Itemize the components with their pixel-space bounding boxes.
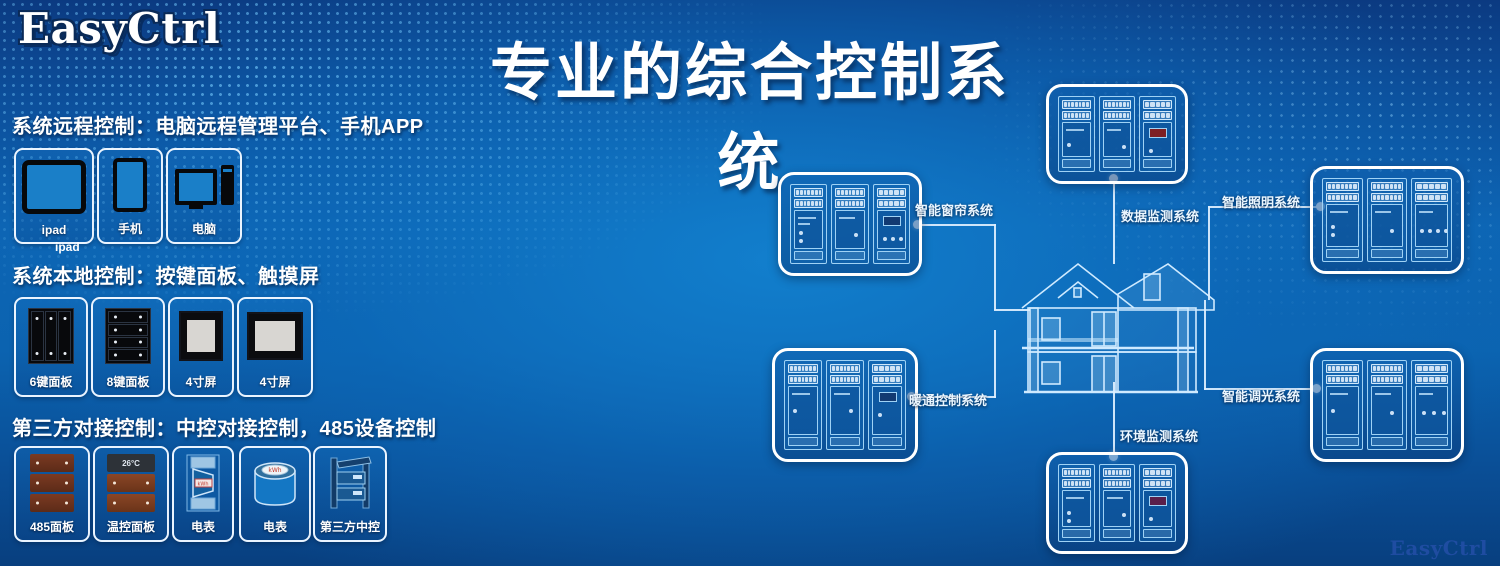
- device-card-6-key-panel[interactable]: 6键面板: [14, 297, 88, 397]
- controller-module: [1411, 178, 1452, 262]
- node-label-hvac-control-system: 暖通控制系统: [909, 390, 987, 409]
- round-meter-glyph: kWh: [247, 455, 303, 511]
- four-inch-screen-icon: [170, 299, 232, 373]
- thermostat-panel-icon: 26°C: [95, 448, 167, 518]
- section-heading-remote-control: 系统远程控制：电脑远程管理平台、手机APP: [12, 110, 424, 139]
- controller-module: [1099, 464, 1136, 542]
- brand-watermark: EasyCtrl: [1390, 536, 1488, 560]
- rs485-panel-icon: [16, 448, 88, 518]
- four-inch-screen-wide-icon: [239, 299, 311, 373]
- thermostat-temperature-display: 26°C: [107, 454, 155, 472]
- controller-module: [873, 184, 910, 264]
- controller-module: [784, 360, 822, 450]
- node-card-hvac-control-system[interactable]: [772, 348, 918, 462]
- controller-module: [1322, 178, 1363, 262]
- tablet-icon: [16, 150, 92, 223]
- controller-modules: [1058, 96, 1176, 172]
- connector-line: [1204, 300, 1206, 390]
- phone-icon: [99, 150, 161, 220]
- controller-module: [1139, 96, 1176, 172]
- controller-module: [1367, 360, 1408, 450]
- node-card-smart-lighting-system[interactable]: [1310, 166, 1464, 274]
- device-card-thermostat-panel[interactable]: 26°C 温控面板: [93, 446, 169, 542]
- connector-line: [994, 330, 996, 398]
- device-card-caption: 485面板: [30, 518, 74, 540]
- svg-text:kWh: kWh: [268, 467, 281, 474]
- controller-module: [826, 360, 864, 450]
- device-card-phone[interactable]: 手机: [97, 148, 163, 244]
- section-heading-local-control: 系统本地控制：按键面板、触摸屏: [12, 260, 320, 289]
- controller-module: [1058, 464, 1095, 542]
- node-card-smart-curtain-system[interactable]: [778, 172, 922, 276]
- controller-module: [1367, 178, 1408, 262]
- controller-modules: [1058, 464, 1176, 542]
- connector-line: [1113, 382, 1115, 458]
- controller-module: [868, 360, 906, 450]
- stray-ipad-caption: ipad: [55, 240, 80, 254]
- connector-line: [1113, 178, 1115, 264]
- device-card-caption: 手机: [118, 220, 142, 242]
- din-meter-glyph: kWh: [181, 453, 225, 513]
- device-card-round-meter[interactable]: kWh 电表: [239, 446, 311, 542]
- connector-line: [918, 224, 996, 226]
- controller-module: [1411, 360, 1452, 450]
- banner-canvas: EasyCtrl 专业的综合控制系统 系统远程控制：电脑远程管理平台、手机APP…: [0, 0, 1500, 566]
- controller-modules: [790, 184, 910, 264]
- node-card-data-monitoring-system[interactable]: [1046, 84, 1188, 184]
- device-card-third-party-controller[interactable]: 第三方中控: [313, 446, 387, 542]
- connector-line: [1208, 206, 1210, 300]
- device-card-din-meter[interactable]: kWh 电表: [172, 446, 234, 542]
- node-label-data-monitoring-system: 数据监测系统: [1121, 206, 1199, 225]
- page-title: 专业的综合控制系统: [470, 22, 1030, 202]
- device-card-caption: 4寸屏: [186, 373, 217, 395]
- device-card-caption: 温控面板: [107, 518, 155, 540]
- third-party-controller-glyph: [323, 454, 377, 512]
- device-card-caption: 4寸屏: [260, 373, 291, 395]
- third-party-controller-icon: [315, 448, 385, 518]
- brand-logo: EasyCtrl: [18, 4, 220, 53]
- device-card-485-panel[interactable]: 485面板: [14, 446, 90, 542]
- section-heading-third-party-control: 第三方对接控制：中控对接控制，485设备控制: [12, 412, 436, 441]
- node-label-smart-lighting-system: 智能照明系统: [1222, 192, 1300, 211]
- node-card-smart-dimming-system[interactable]: [1310, 348, 1464, 462]
- controller-module: [831, 184, 868, 264]
- node-label-environment-monitoring-system: 环境监测系统: [1120, 426, 1198, 445]
- eight-key-panel-icon: [93, 299, 163, 373]
- device-card-ipad[interactable]: ipad: [14, 148, 94, 244]
- device-card-caption: 电脑: [192, 220, 216, 242]
- controller-module: [1139, 464, 1176, 542]
- din-meter-icon: kWh: [174, 448, 232, 518]
- connector-line: [994, 224, 996, 310]
- device-card-computer[interactable]: 电脑: [166, 148, 242, 244]
- controller-modules: [1322, 360, 1452, 450]
- node-label-smart-dimming-system: 智能调光系统: [1222, 386, 1300, 405]
- house-illustration: [1018, 252, 1216, 402]
- round-meter-icon: kWh: [241, 448, 309, 518]
- device-card-4-inch-screen-wide[interactable]: 4寸屏: [237, 297, 313, 397]
- device-card-4-inch-screen[interactable]: 4寸屏: [168, 297, 234, 397]
- node-card-environment-monitoring-system[interactable]: [1046, 452, 1188, 554]
- desktop-computer-icon: [168, 150, 240, 220]
- controller-modules: [784, 360, 906, 450]
- controller-module: [790, 184, 827, 264]
- device-card-caption: 6键面板: [30, 373, 73, 395]
- controller-module: [1322, 360, 1363, 450]
- controller-modules: [1322, 178, 1452, 262]
- connector-line: [994, 309, 1030, 311]
- svg-text:kWh: kWh: [197, 482, 208, 488]
- device-card-caption: 电表: [191, 518, 215, 540]
- device-card-8-key-panel[interactable]: 8键面板: [91, 297, 165, 397]
- device-card-caption: 电表: [263, 518, 287, 540]
- node-label-smart-curtain-system: 智能窗帘系统: [915, 200, 993, 219]
- device-card-caption: 8键面板: [107, 373, 150, 395]
- controller-module: [1099, 96, 1136, 172]
- six-key-panel-icon: [16, 299, 86, 373]
- controller-module: [1058, 96, 1095, 172]
- device-card-caption: 第三方中控: [320, 518, 380, 540]
